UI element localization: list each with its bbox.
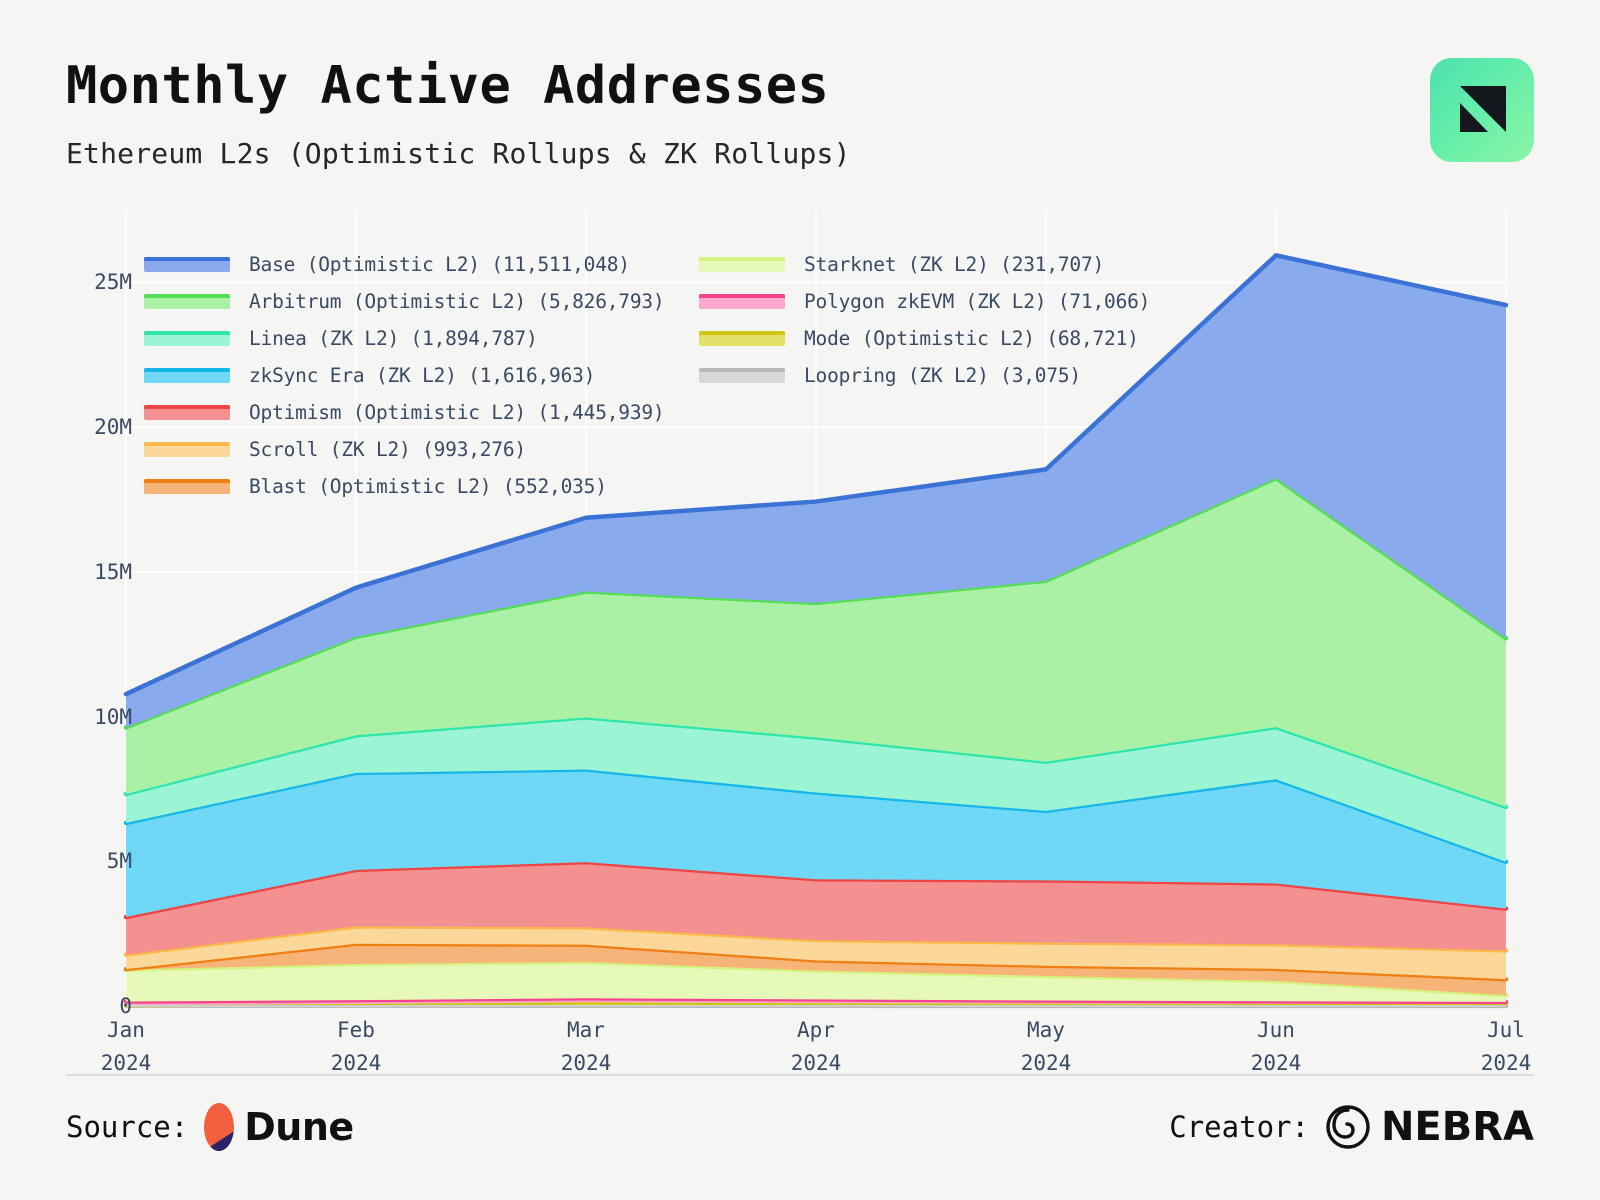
nebra-logo-icon — [1325, 1104, 1371, 1150]
y-tick-label: 20M — [94, 415, 132, 439]
y-axis: 05M10M15M20M25M — [66, 200, 132, 1090]
footer-creator: Creator: NEBRA — [1169, 1104, 1534, 1150]
page-subtitle: Ethereum L2s (Optimistic Rollups & ZK Ro… — [66, 137, 1534, 170]
x-tick-month: Jan — [101, 1014, 152, 1047]
legend-swatch-icon — [144, 294, 230, 309]
legend-label: Linea (ZK L2) (1,894,787) — [249, 327, 538, 350]
legend-swatch-icon — [144, 479, 230, 494]
page-title: Monthly Active Addresses — [66, 58, 1534, 115]
legend-item-loopring[interactable]: Loopring (ZK L2) (3,075) — [699, 363, 1159, 387]
ournetwork-logo-icon — [1430, 58, 1534, 162]
y-tick-label: 15M — [94, 560, 132, 584]
x-tick-label: Jun2024 — [1251, 1014, 1302, 1079]
legend-item-blast[interactable]: Blast (Optimistic L2) (552,035) — [144, 474, 699, 498]
legend-swatch-icon — [699, 257, 785, 272]
source-name: Dune — [244, 1105, 353, 1149]
source-label: Source: — [66, 1110, 188, 1144]
chart-legend: Base (Optimistic L2) (11,511,048)Arbitru… — [144, 252, 1164, 498]
legend-label: Base (Optimistic L2) (11,511,048) — [249, 253, 630, 276]
legend-label: Optimism (Optimistic L2) (1,445,939) — [249, 401, 664, 424]
legend-item-zksync-era[interactable]: zkSync Era (ZK L2) (1,616,963) — [144, 363, 699, 387]
x-tick-label: May2024 — [1021, 1014, 1072, 1079]
footer: Source: Dune Creator: NEBRA — [66, 1074, 1534, 1170]
chart-page: Monthly Active Addresses Ethereum L2s (O… — [0, 0, 1600, 1200]
legend-column-left: Base (Optimistic L2) (11,511,048)Arbitru… — [144, 252, 699, 498]
y-tick-label: 10M — [94, 705, 132, 729]
x-tick-month: Jun — [1251, 1014, 1302, 1047]
creator-label: Creator: — [1169, 1110, 1309, 1144]
legend-swatch-icon — [699, 331, 785, 346]
legend-item-linea[interactable]: Linea (ZK L2) (1,894,787) — [144, 326, 699, 350]
legend-label: Loopring (ZK L2) (3,075) — [804, 364, 1081, 387]
x-tick-label: Jul2024 — [1481, 1014, 1532, 1079]
legend-label: Mode (Optimistic L2) (68,721) — [804, 327, 1139, 350]
legend-swatch-icon — [699, 294, 785, 309]
legend-label: Polygon zkEVM (ZK L2) (71,066) — [804, 290, 1150, 313]
creator-name: NEBRA — [1381, 1104, 1534, 1150]
header: Monthly Active Addresses Ethereum L2s (O… — [66, 58, 1534, 188]
dune-logo-icon — [202, 1102, 236, 1152]
legend-item-base[interactable]: Base (Optimistic L2) (11,511,048) — [144, 252, 699, 276]
y-tick-label: 5M — [107, 849, 132, 873]
legend-item-polygon-zkevm[interactable]: Polygon zkEVM (ZK L2) (71,066) — [699, 289, 1159, 313]
legend-swatch-icon — [144, 331, 230, 346]
legend-item-optimism[interactable]: Optimism (Optimistic L2) (1,445,939) — [144, 400, 699, 424]
legend-item-arbitrum[interactable]: Arbitrum (Optimistic L2) (5,826,793) — [144, 289, 699, 313]
legend-column-right: Starknet (ZK L2) (231,707)Polygon zkEVM … — [699, 252, 1159, 498]
x-tick-month: Mar — [561, 1014, 612, 1047]
x-tick-label: Feb2024 — [331, 1014, 382, 1079]
x-tick-label: Mar2024 — [561, 1014, 612, 1079]
x-tick-month: Apr — [791, 1014, 842, 1047]
x-tick-label: Jan2024 — [101, 1014, 152, 1079]
footer-source: Source: Dune — [66, 1102, 354, 1152]
legend-label: Starknet (ZK L2) (231,707) — [804, 253, 1104, 276]
legend-label: Arbitrum (Optimistic L2) (5,826,793) — [249, 290, 664, 313]
x-tick-month: Feb — [331, 1014, 382, 1047]
y-tick-label: 25M — [94, 270, 132, 294]
legend-swatch-icon — [144, 405, 230, 420]
legend-swatch-icon — [144, 368, 230, 383]
legend-item-mode[interactable]: Mode (Optimistic L2) (68,721) — [699, 326, 1159, 350]
legend-swatch-icon — [144, 442, 230, 457]
x-tick-month: May — [1021, 1014, 1072, 1047]
legend-item-scroll[interactable]: Scroll (ZK L2) (993,276) — [144, 437, 699, 461]
chart-container: OurNetwork 05M10M15M20M25M Jan2024Feb202… — [66, 200, 1534, 1090]
x-tick-label: Apr2024 — [791, 1014, 842, 1079]
legend-label: Blast (Optimistic L2) (552,035) — [249, 475, 607, 498]
legend-label: zkSync Era (ZK L2) (1,616,963) — [249, 364, 595, 387]
legend-swatch-icon — [144, 257, 230, 272]
legend-item-starknet[interactable]: Starknet (ZK L2) (231,707) — [699, 252, 1159, 276]
x-tick-month: Jul — [1481, 1014, 1532, 1047]
legend-label: Scroll (ZK L2) (993,276) — [249, 438, 526, 461]
legend-swatch-icon — [699, 368, 785, 383]
